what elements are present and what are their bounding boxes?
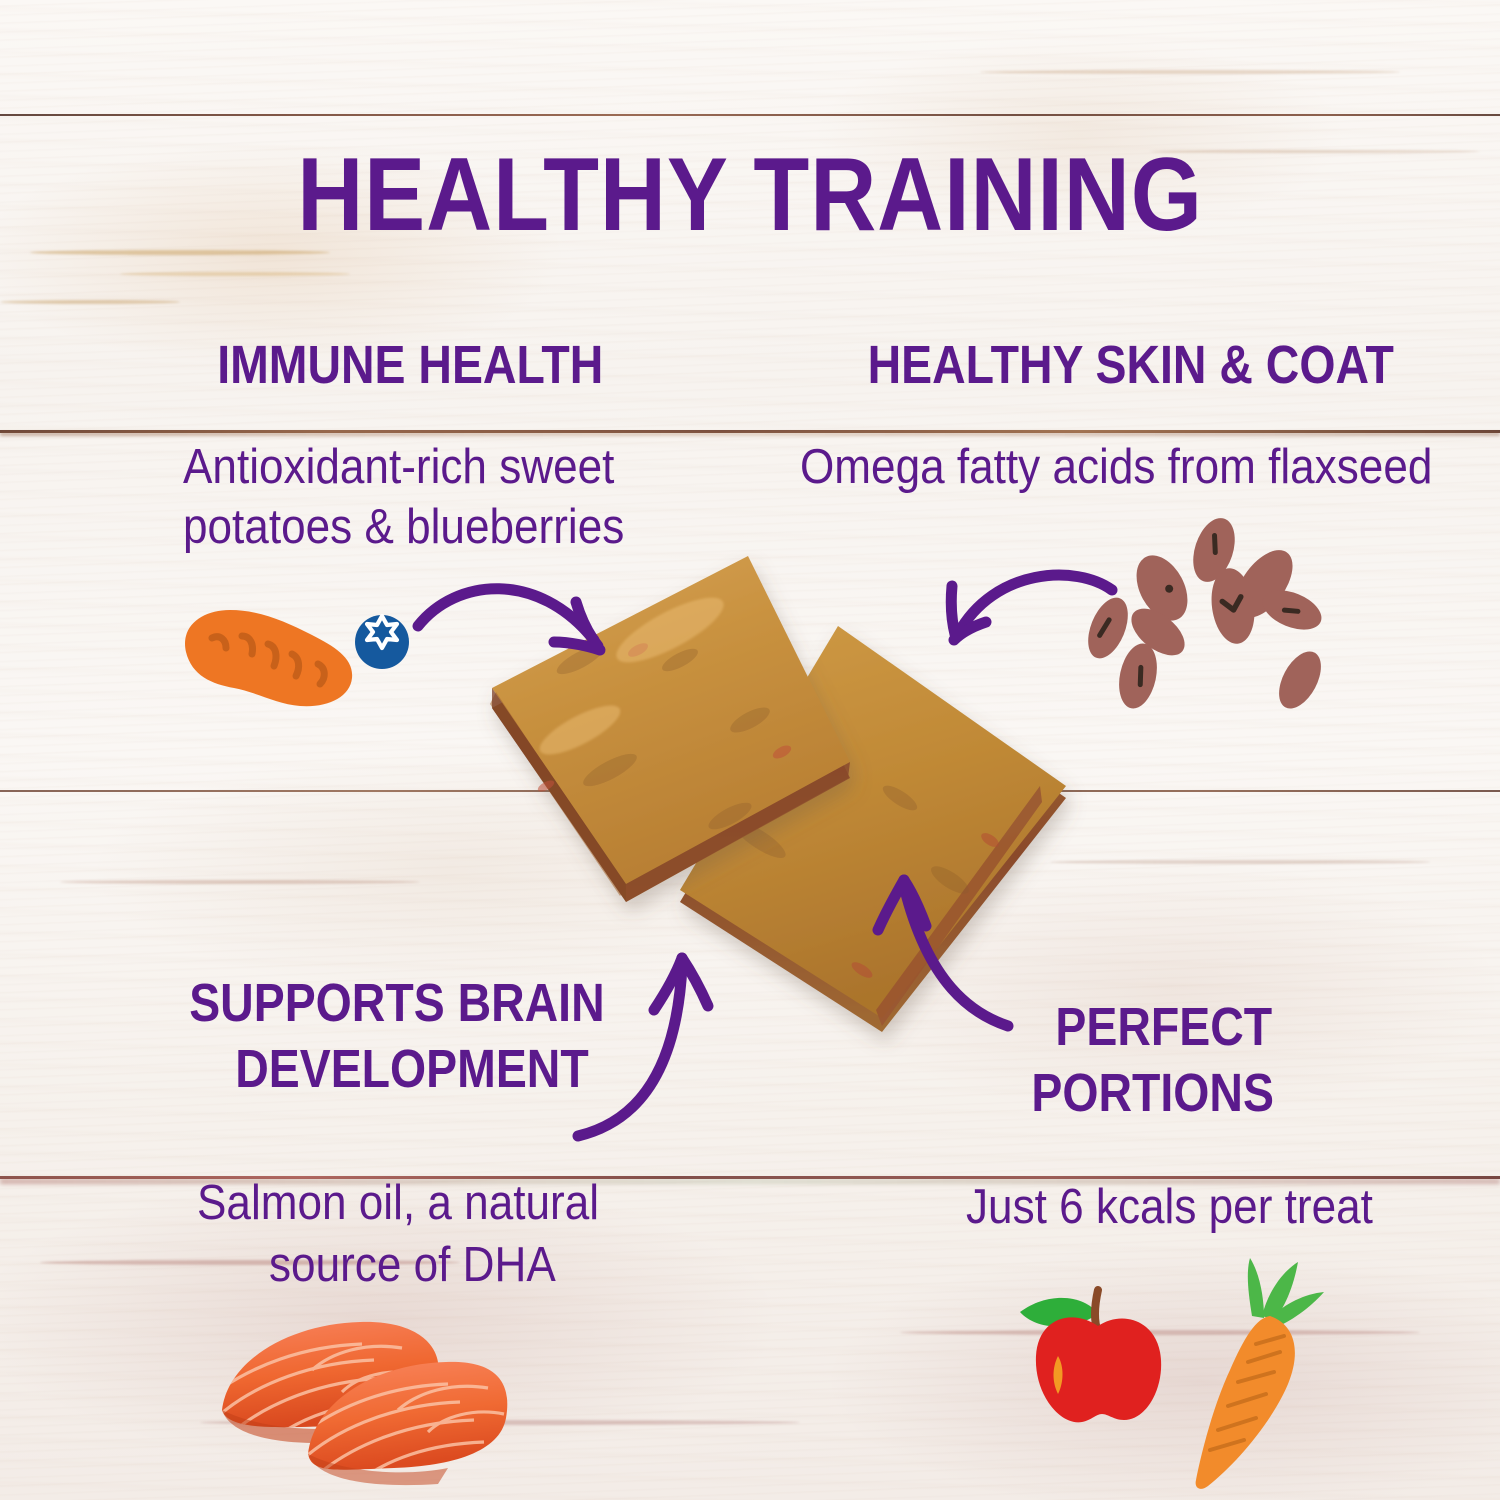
salmon-fillet-icon xyxy=(212,1306,512,1496)
feature-body-brain-line1: Salmon oil, a natural xyxy=(197,1176,755,1231)
infographic-canvas: HEALTHY TRAINING IMMUNE HEALTH Antioxida… xyxy=(0,0,1500,1500)
plank-seam xyxy=(0,114,1500,117)
feature-heading-immune-health: IMMUNE HEALTH xyxy=(217,338,699,393)
grain-streak xyxy=(120,272,350,276)
plank-seam-shadow xyxy=(0,432,1500,435)
arrow-immune-to-treat xyxy=(398,566,648,676)
feature-body-portions-line1: Just 6 kcals per treat xyxy=(966,1180,1470,1235)
arrow-brain-to-treat xyxy=(572,948,752,1148)
feature-body-healthy-skin-coat-line1: Omega fatty acids from flaxseed xyxy=(800,440,1484,495)
grain-streak xyxy=(980,70,1400,74)
page-title: HEALTHY TRAINING xyxy=(90,136,1410,255)
grain-streak xyxy=(0,300,180,304)
grain-streak xyxy=(60,880,420,884)
arrow-skin-to-flaxseed xyxy=(926,560,1126,670)
feature-body-brain-line2: source of DHA xyxy=(269,1238,827,1293)
feature-body-immune-health-line1: Antioxidant-rich sweet xyxy=(183,440,741,495)
carrot-icon xyxy=(1152,1258,1342,1498)
feature-heading-healthy-skin-coat: HEALTHY SKIN & COAT xyxy=(868,338,1453,393)
sweet-potato-icon xyxy=(168,586,368,726)
carrot-top-icon xyxy=(1248,1258,1324,1328)
arrow-portions-to-treat xyxy=(856,872,1056,1072)
